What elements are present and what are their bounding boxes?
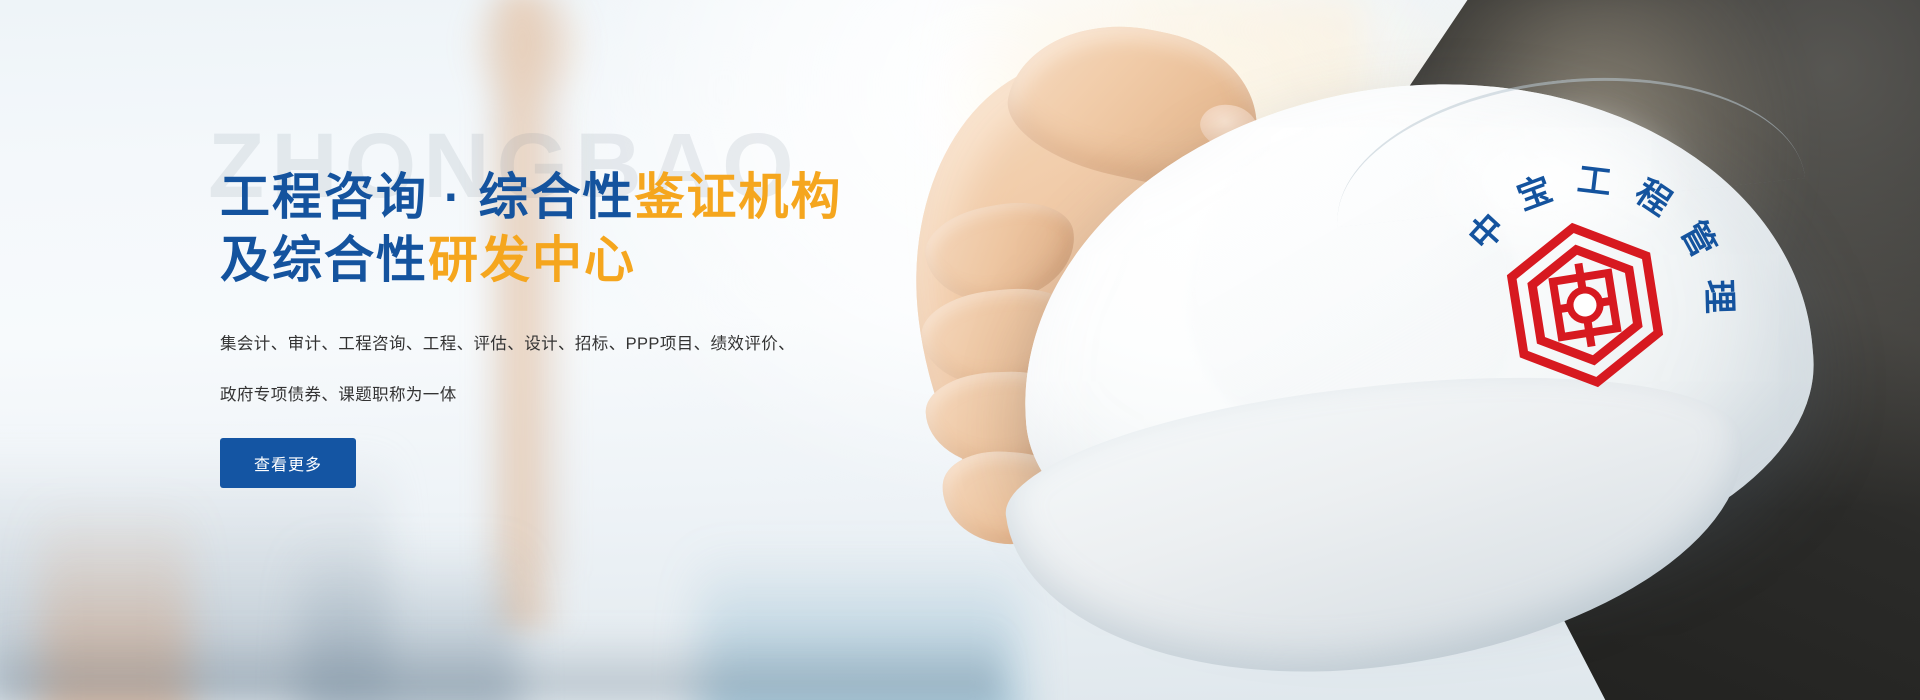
headline-line-2-primary: 及综合性 xyxy=(220,232,428,288)
crane-rung xyxy=(481,76,573,81)
crane-rung xyxy=(481,490,573,495)
crane-rung xyxy=(481,513,573,518)
description-line-1: 集会计、审计、工程咨询、工程、评估、设计、招标、PPP项目、绩效评价、 xyxy=(220,332,940,357)
headline-line-2-accent: 研发中心 xyxy=(428,232,636,288)
crane-rung xyxy=(481,53,573,58)
headline-line-1-accent: 鉴证机构 xyxy=(634,169,842,225)
crane-rung xyxy=(481,99,573,104)
headline: 工程咨询 · 综合性鉴证机构 及综合性研发中心 xyxy=(220,166,940,292)
description-line-2: 政府专项债券、课题职称为一体 xyxy=(220,383,940,408)
headline-line-2: 及综合性研发中心 xyxy=(220,229,940,292)
headline-line-1: 工程咨询 · 综合性鉴证机构 xyxy=(220,166,940,229)
background-horizon xyxy=(0,630,1000,700)
headline-line-1-primary: 工程咨询 · 综合性 xyxy=(220,169,634,225)
view-more-button[interactable]: 查看更多 xyxy=(220,438,356,488)
hero-banner: 中宝工程管理 ZHONGBAO 工程咨询 · 综合性鉴证机构 xyxy=(0,0,1920,700)
description: 集会计、审计、工程咨询、工程、评估、设计、招标、PPP项目、绩效评价、 政府专项… xyxy=(220,332,940,408)
hero-content: ZHONGBAO 工程咨询 · 综合性鉴证机构 及综合性研发中心 集会计、审计、… xyxy=(220,118,940,488)
helmet-logo-mark xyxy=(1482,202,1688,408)
crane-rung xyxy=(481,30,573,35)
